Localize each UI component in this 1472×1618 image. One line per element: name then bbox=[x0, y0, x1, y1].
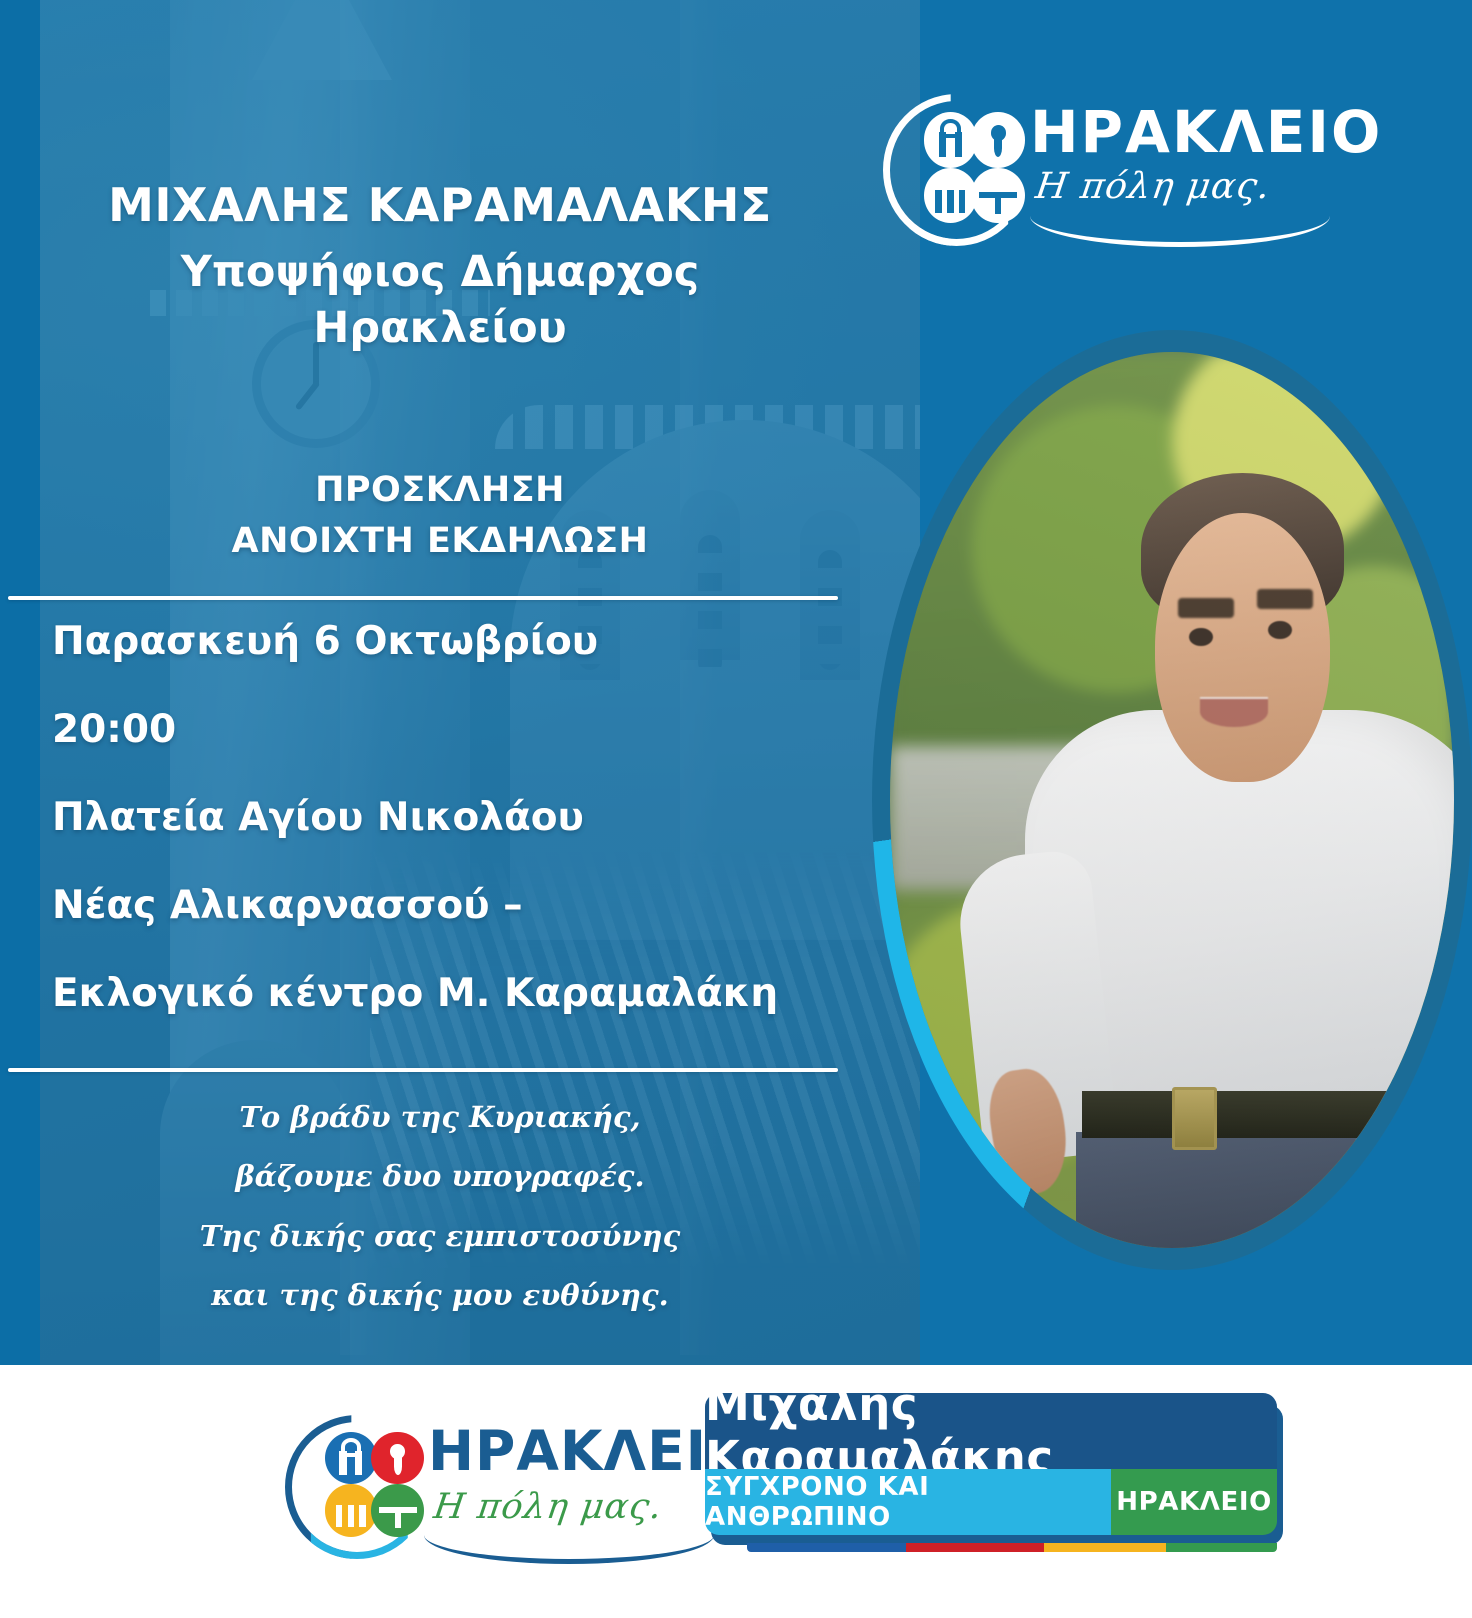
stripe-blue bbox=[747, 1543, 906, 1552]
emblem-face-nature-icon bbox=[371, 1484, 424, 1537]
event-venue-line2: Νέας Αλικαρνασσού – bbox=[52, 886, 852, 927]
footer-bar: ΗΡΑΚΛΕΙΟ Η πόλη μας. Μιχάλης Καραμαλάκης… bbox=[0, 1365, 1472, 1618]
quote-line1: Το βράδυ της Κυριακής, bbox=[0, 1088, 880, 1147]
stripe-yellow bbox=[1044, 1543, 1166, 1552]
stripe-red bbox=[906, 1543, 1044, 1552]
emblem-face-culture-icon bbox=[924, 112, 978, 168]
event-time: 20:00 bbox=[52, 710, 852, 751]
event-venue-line3: Εκλογικό κέντρο Μ. Καραμαλάκη bbox=[52, 974, 852, 1015]
city-logo-bottom: ΗΡΑΚΛΕΙΟ Η πόλη μας. bbox=[282, 1395, 682, 1565]
candidate-role: Υποψήφιος Δήμαρχος Ηρακλείου bbox=[0, 245, 880, 357]
invitation-line2: ΑΝΟΙΧΤΗ ΕΚΔΗΛΩΣΗ bbox=[0, 516, 880, 567]
badge-slogan-right-text: ΗΡΑΚΛΕΙΟ bbox=[1116, 1487, 1272, 1517]
emblem-face-heritage-icon bbox=[325, 1484, 378, 1537]
badge-name-bar: Μιχάλης Καραμαλάκης bbox=[705, 1393, 1277, 1469]
invitation-heading: ΠΡΟΣΚΛΗΣΗ ΑΝΟΙΧΤΗ ΕΚΔΗΛΩΣΗ bbox=[0, 465, 880, 567]
city-logo-swoosh bbox=[424, 1535, 714, 1564]
campaign-badge: Μιχάλης Καραμαλάκης ΣΥΓΧΡΟΝΟ ΚΑΙ ΑΝΘΡΩΠΙ… bbox=[705, 1393, 1285, 1561]
candidate-role-line1: Υποψήφιος Δήμαρχος bbox=[0, 245, 880, 301]
candidate-role-line2: Ηρακλείου bbox=[0, 301, 880, 357]
event-details: Παρασκευή 6 Οκτωβρίου 20:00 Πλατεία Αγίο… bbox=[52, 622, 852, 1015]
heraklion-emblem-color-icon bbox=[282, 1409, 424, 1551]
badge-slogan-left: ΣΥΓΧΡΟΝΟ ΚΑΙ ΑΝΘΡΩΠΙΝΟ bbox=[705, 1469, 1111, 1535]
candidate-photo bbox=[890, 352, 1454, 1248]
emblem-face-culture-icon bbox=[325, 1432, 378, 1485]
badge-color-stripes bbox=[747, 1543, 1277, 1552]
city-logo-tagline: Η πόλη μας. bbox=[431, 1487, 665, 1527]
hero-panel: ΜΙΧΑΛΗΣ ΚΑΡΑΜΑΛΑΚΗΣ Υποψήφιος Δήμαρχος Η… bbox=[0, 0, 1472, 1365]
badge-slogan-right: ΗΡΑΚΛΕΙΟ bbox=[1111, 1469, 1277, 1535]
campaign-poster: ΜΙΧΑΛΗΣ ΚΑΡΑΜΑΛΑΚΗΣ Υποψήφιος Δήμαρχος Η… bbox=[0, 0, 1472, 1618]
emblem-face-location-icon bbox=[971, 112, 1025, 168]
event-date: Παρασκευή 6 Οκτωβρίου bbox=[52, 622, 852, 663]
quote-line2: βάζουμε δυο υπογραφές. bbox=[0, 1147, 880, 1206]
event-venue-line1: Πλατεία Αγίου Νικολάου bbox=[52, 798, 852, 839]
city-logo-wordmark: ΗΡΑΚΛΕΙΟ bbox=[1030, 98, 1382, 166]
quote-line4: και της δικής μου ευθύνης. bbox=[0, 1266, 880, 1325]
candidate-name: ΜΙΧΑΛΗΣ ΚΑΡΑΜΑΛΑΚΗΣ bbox=[0, 178, 880, 232]
photo-shading bbox=[890, 352, 1454, 1248]
city-logo-swoosh bbox=[1030, 216, 1330, 247]
emblem-face-nature-icon bbox=[971, 168, 1025, 224]
candidate-photo-circle bbox=[872, 330, 1472, 1270]
invitation-line1: ΠΡΟΣΚΛΗΣΗ bbox=[0, 465, 880, 516]
quote-line3: Της δικής σας εμπιστοσύνης bbox=[0, 1207, 880, 1266]
divider-bottom bbox=[8, 1068, 838, 1072]
emblem-face-location-icon bbox=[371, 1432, 424, 1485]
divider-top bbox=[8, 596, 838, 600]
city-logo-tagline: Η πόλη μας. bbox=[1033, 166, 1273, 207]
poster-text-column: ΜΙΧΑΛΗΣ ΚΑΡΑΜΑΛΑΚΗΣ Υποψήφιος Δήμαρχος Η… bbox=[0, 0, 880, 1365]
campaign-quote: Το βράδυ της Κυριακής, βάζουμε δυο υπογρ… bbox=[0, 1088, 880, 1326]
badge-slogan-bar: ΣΥΓΧΡΟΝΟ ΚΑΙ ΑΝΘΡΩΠΙΝΟ ΗΡΑΚΛΕΙΟ bbox=[705, 1469, 1277, 1535]
emblem-face-heritage-icon bbox=[924, 168, 978, 224]
stripe-green bbox=[1166, 1543, 1277, 1552]
heraklion-emblem-icon bbox=[880, 88, 1025, 238]
city-logo-top: ΗΡΑΚΛΕΙΟ Η πόλη μας. bbox=[880, 88, 1380, 248]
badge-slogan-left-text: ΣΥΓΧΡΟΝΟ ΚΑΙ ΑΝΘΡΩΠΙΝΟ bbox=[705, 1472, 1111, 1532]
